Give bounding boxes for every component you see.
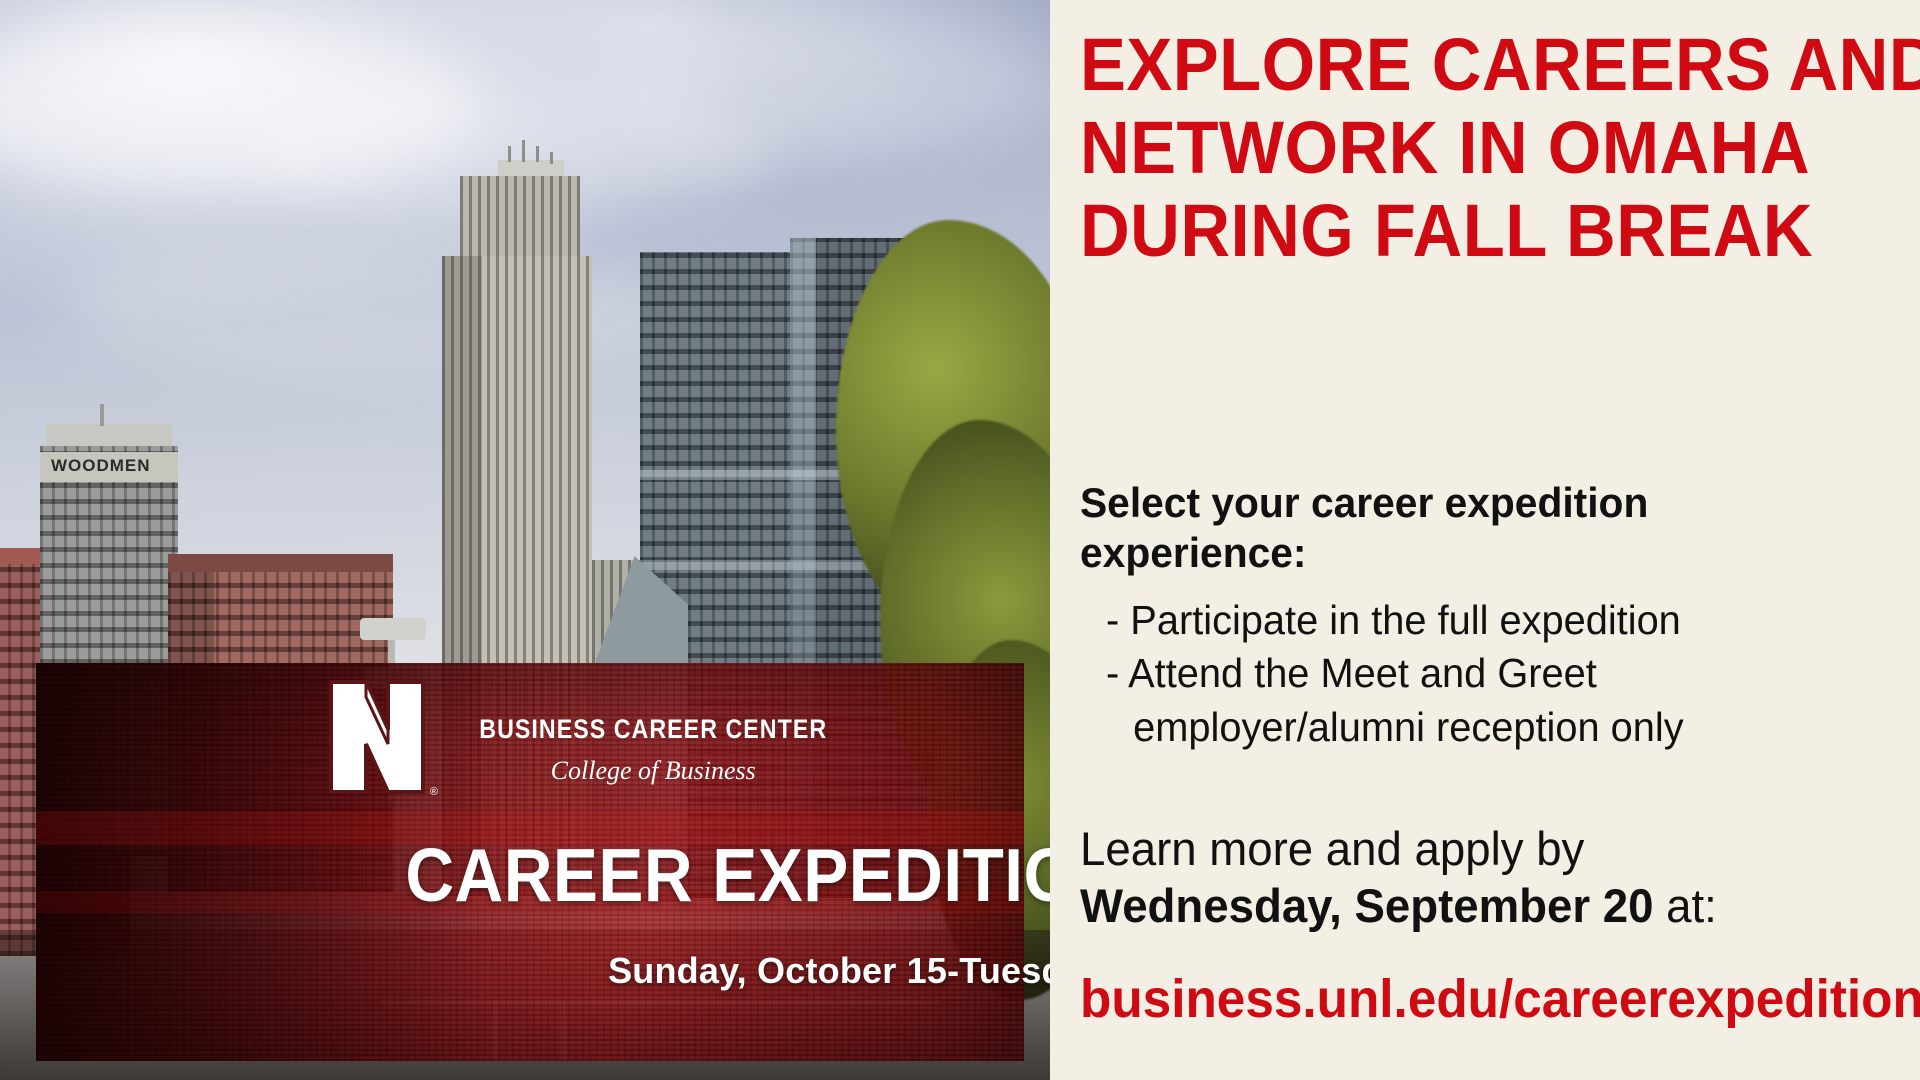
woodmen-sign-text: WOODMEN bbox=[51, 456, 151, 476]
list-item: - Attend the Meet and Greet bbox=[1106, 647, 1882, 700]
logo-text-column: BUSINESS CAREER CENTER College of Busine… bbox=[451, 688, 855, 786]
promotional-poster: WOODMEN bbox=[0, 0, 1920, 1080]
select-heading-line-1: Select your career expedition bbox=[1080, 478, 1866, 528]
antenna-dish-upper bbox=[360, 618, 426, 640]
website-url[interactable]: business.unl.edu/careerexpedition bbox=[1080, 968, 1920, 1030]
cta-line-1: Learn more and apply by bbox=[1080, 820, 1885, 877]
building-midrise-roof bbox=[168, 554, 393, 572]
info-panel: EXPLORE CAREERS AND NETWORK IN OMAHA DUR… bbox=[1050, 0, 1920, 1080]
list-item: - Participate in the full expedition bbox=[1106, 594, 1882, 647]
headline-line-2: NETWORK IN OMAHA bbox=[1080, 107, 1843, 190]
cta-deadline-tail: at: bbox=[1653, 879, 1716, 932]
bullet-text: Participate in the full expedition bbox=[1130, 597, 1680, 643]
select-heading-line-2: experience: bbox=[1080, 528, 1866, 578]
tower-crown-cap bbox=[498, 160, 564, 176]
bullet-text: Attend the Meet and Greet bbox=[1128, 650, 1597, 696]
bullet-continuation: employer/alumni reception only bbox=[1106, 701, 1882, 754]
woodmen-tower-antenna bbox=[100, 404, 104, 426]
experience-options-list: - Participate in the full expedition - A… bbox=[1106, 594, 1882, 754]
woodmen-tower-crown bbox=[46, 424, 172, 446]
nebraska-n-logo-icon: ® bbox=[325, 678, 429, 796]
cta-line-2: Wednesday, September 20 at: bbox=[1080, 877, 1885, 934]
headline-line-3: DURING FALL BREAK bbox=[1080, 190, 1843, 273]
call-to-action-text: Learn more and apply by Wednesday, Septe… bbox=[1080, 820, 1885, 935]
select-experience-heading: Select your career expedition experience… bbox=[1080, 478, 1866, 577]
headline-line-1: EXPLORE CAREERS AND bbox=[1080, 24, 1843, 107]
bullet-marker: - bbox=[1106, 597, 1119, 643]
cloud-shape bbox=[600, 10, 1050, 160]
tower-antennae bbox=[522, 140, 525, 162]
registered-trademark-icon: ® bbox=[430, 786, 438, 798]
tower-antennae bbox=[536, 146, 539, 162]
cta-deadline-date: Wednesday, September 20 bbox=[1080, 879, 1653, 932]
bullet-marker: - bbox=[1106, 650, 1119, 696]
tower-antennae bbox=[550, 152, 553, 164]
headline: EXPLORE CAREERS AND NETWORK IN OMAHA DUR… bbox=[1080, 24, 1843, 273]
business-career-center-name: BUSINESS CAREER CENTER bbox=[479, 714, 827, 745]
business-career-center-logo: ® BUSINESS CAREER CENTER College of Busi… bbox=[325, 678, 855, 796]
cloud-shape bbox=[60, 240, 700, 380]
college-of-business-name: College of Business bbox=[551, 756, 756, 786]
tower-antennae bbox=[508, 146, 511, 162]
